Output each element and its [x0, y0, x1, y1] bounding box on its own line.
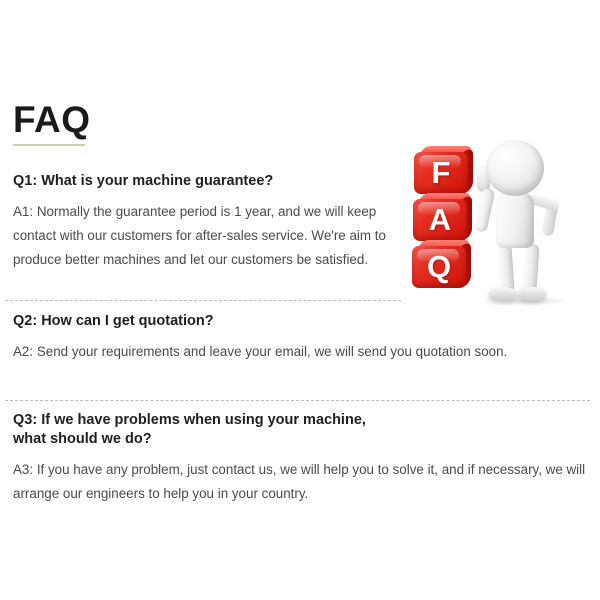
figure-head — [486, 140, 544, 196]
faq-item-2: Q2: How can I get quotation? A2: Send yo… — [13, 312, 513, 364]
faq-item-3: Q3: If we have problems when using your … — [13, 411, 588, 506]
faq-cube-a: A — [413, 193, 473, 241]
figure-raised-arm — [474, 187, 496, 233]
faq-divider-2 — [5, 400, 590, 401]
figure-right-leg — [522, 244, 539, 293]
cube-letter-f: F — [414, 152, 468, 194]
faq-question-3-line1: Q3: If we have problems when using your … — [13, 412, 366, 428]
figure-torso — [496, 192, 534, 248]
page-title: FAQ — [13, 100, 91, 140]
faq-question-3: Q3: If we have problems when using your … — [13, 411, 588, 449]
faq-cube-q: Q — [412, 240, 472, 288]
figure-left-leg — [497, 244, 514, 293]
title-underline-rule — [13, 144, 85, 146]
faq-question-1: Q1: What is your machine guarantee? — [13, 172, 413, 191]
faq-question-2: Q2: How can I get quotation? — [13, 312, 513, 331]
page-title-block: FAQ — [13, 100, 91, 146]
faq-answer-1: A1: Normally the guarantee period is 1 y… — [13, 200, 413, 272]
cube-letter-a: A — [413, 199, 467, 241]
faq-question-3-line2: what should we do? — [13, 430, 588, 449]
cube-letter-q: Q — [412, 246, 466, 288]
figure-right-foot — [518, 287, 546, 301]
figure-left-foot — [489, 287, 517, 301]
faq-answer-3: A3: If you have any problem, just contac… — [13, 458, 588, 506]
faq-answer-2: A2: Send your requirements and leave you… — [13, 340, 513, 364]
faq-page: FAQ Q1: What is your machine guarantee? … — [0, 0, 600, 600]
faq-item-1: Q1: What is your machine guarantee? A1: … — [13, 172, 413, 272]
faq-3d-graphic: F A Q — [398, 134, 593, 309]
3d-person-figure-icon — [460, 136, 580, 308]
faq-cube-f: F — [414, 146, 474, 194]
faq-divider-1 — [5, 300, 401, 301]
